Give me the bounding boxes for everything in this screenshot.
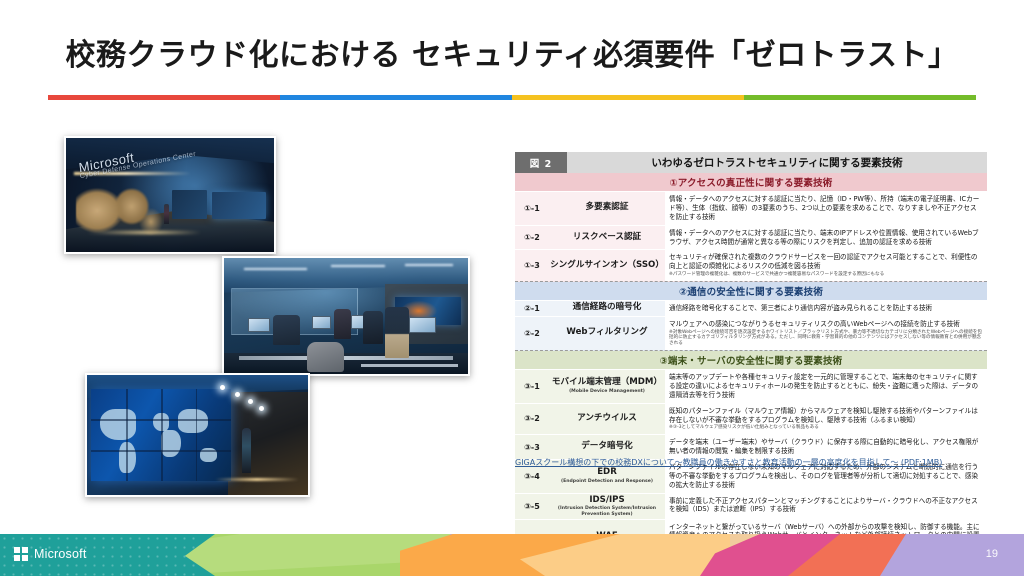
table-row: ①-2 リスクベース認証 情報・データへのアクセスに対する認証に当たり、端末のI… (515, 225, 987, 250)
section-title: ①アクセスの真正性に関する要素技術 (515, 173, 987, 191)
row-name: Webフィルタリング (549, 317, 665, 350)
table-row: ②-2 Webフィルタリング マルウェアへの感染につながりうるセキュリティリスク… (515, 316, 987, 350)
row-number: ①-1 (515, 192, 549, 225)
table-row: ①-1 多要素認証 情報・データへのアクセスに対する認証に当たり、記憶（ID・P… (515, 191, 987, 225)
row-number: ③-1 (515, 370, 549, 403)
row-name: IDS/IPS (Intrusion Detection System/Intr… (549, 494, 665, 519)
row-note: ※パスワード管理の複雑化は、複数のサービスで共通かつ複雑容易なパスワードを設定す… (669, 272, 983, 278)
microsoft-logo: Microsoft (14, 547, 87, 561)
table-row: ③-1 モバイル端末管理（MDM） (Mobile Device Managem… (515, 369, 987, 403)
row-name: シングルサインオン（SSO） (549, 250, 665, 281)
row-description: データを端末（ユーザー端末）やサーバ（クラウド）に保存する際に自動的に暗号化し、… (665, 435, 987, 459)
row-description: 端末等のアップデートや各種セキュリティ設定を一元的に管理することで、端末毎のセキ… (665, 370, 987, 403)
microsoft-wordmark: Microsoft (34, 547, 87, 561)
row-name-english: (Mobile Device Management) (569, 389, 645, 394)
row-name: 多要素認証 (549, 192, 665, 225)
figure-zero-trust-table: 図 2 いわゆるゼロトラストセキュリティに関する要素技術 ①アクセスの真正性に関… (515, 152, 987, 562)
accent-segment-green (744, 95, 976, 100)
row-name-english: (Endpoint Detection and Response) (561, 479, 653, 484)
row-description: 事前に定義した不正アクセスパターンとマッチングすることによりサーバ・クラウドへの… (665, 494, 987, 519)
row-description: 既知のパターンファイル（マルウェア情報）からマルウェアを検知し駆除する技術やパタ… (665, 404, 987, 435)
figure-section-communication-safety: ②通信の安全性に関する要素技術 ②-1 通信経路の暗号化 通信経路を暗号化するこ… (515, 282, 987, 351)
row-name: データ暗号化 (549, 435, 665, 459)
row-description: セキュリティが確保された複数のクラウドサービスを一回の認証でアクセス可能とするこ… (665, 250, 987, 281)
row-name-english: (Intrusion Detection System/Intrusion Pr… (550, 506, 664, 516)
row-number: ②-2 (515, 317, 549, 350)
figure-section-access-authenticity: ①アクセスの真正性に関する要素技術 ①-1 多要素認証 情報・データへのアクセス… (515, 173, 987, 282)
section-title: ②通信の安全性に関する要素技術 (515, 282, 987, 300)
table-row: ③-5 IDS/IPS (Intrusion Detection System/… (515, 493, 987, 519)
row-description: 情報・データへのアクセスに対する認証に当たり、端末のIPアドレスや位置情報、使用… (665, 226, 987, 250)
table-row: ③-2 アンチウイルス 既知のパターンファイル（マルウェア情報）からマルウェアを… (515, 403, 987, 435)
row-note: ※③-3としてマルウェア感染リスクが低い仕組みとなっている製品もある (669, 425, 983, 431)
accent-segment-yellow (512, 95, 744, 100)
figure-top-bar: 図 2 いわゆるゼロトラストセキュリティに関する要素技術 (515, 152, 987, 173)
photo-cyber-defense-corridor: Microsoft Cyber Defense Operations Cente… (64, 136, 276, 254)
photo-collage: Microsoft Cyber Defense Operations Cente… (0, 0, 520, 520)
section-title: ③端末・サーバの安全性に関する要素技術 (515, 351, 987, 369)
photo-world-map-video-wall (85, 373, 310, 497)
row-name: リスクベース認証 (549, 226, 665, 250)
row-number: ①-3 (515, 250, 549, 281)
figure-heading: いわゆるゼロトラストセキュリティに関する要素技術 (567, 152, 987, 173)
row-name: 通信経路の暗号化 (549, 301, 665, 316)
row-name: アンチウイルス (549, 404, 665, 435)
photo-operations-room (222, 256, 470, 376)
row-note: ※対象Webページへの接続可否を逐次設定するホワイトリスト／ブラックリスト方式や… (669, 330, 983, 347)
table-row: ②-1 通信経路の暗号化 通信経路を暗号化することで、第三者により通信内容が盗み… (515, 300, 987, 316)
row-number: ③-3 (515, 435, 549, 459)
microsoft-squares-icon (14, 547, 28, 561)
row-number: ②-1 (515, 301, 549, 316)
table-row: ③-3 データ暗号化 データを端末（ユーザー端末）やサーバ（クラウド）に保存する… (515, 434, 987, 459)
row-number: ③-5 (515, 494, 549, 519)
source-document-link[interactable]: GIGAスクール構想の下での校務DXについて～教職員の働きやすさと教育活動の一層… (515, 457, 987, 468)
row-description: 情報・データへのアクセスに対する認証に当たり、記憶（ID・PW等）、所持（端末の… (665, 192, 987, 225)
page-number: 19 (986, 548, 998, 560)
row-number: ①-2 (515, 226, 549, 250)
row-description: 通信経路を暗号化することで、第三者により通信内容が盗み見られることを防止する技術 (665, 301, 987, 316)
row-number: ③-2 (515, 404, 549, 435)
figure-tag: 図 2 (515, 152, 567, 173)
table-row: ①-3 シングルサインオン（SSO） セキュリティが確保された複数のクラウドサー… (515, 249, 987, 281)
slide-footer: Microsoft 19 (0, 534, 1024, 576)
row-description: マルウェアへの感染につながりうるセキュリティリスクの高いWebページへの接続を防… (665, 317, 987, 350)
row-name: モバイル端末管理（MDM） (Mobile Device Management) (549, 370, 665, 403)
